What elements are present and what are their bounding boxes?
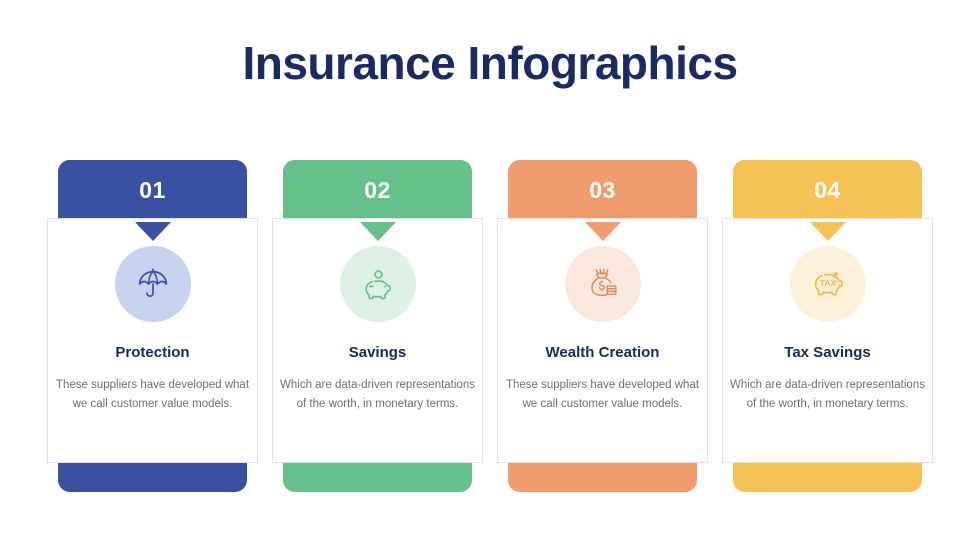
slide-canvas: Insurance Infographics 01 Protection: [0, 0, 980, 551]
card-description: Which are data-driven representations of…: [728, 376, 928, 413]
card-number: 03: [589, 179, 616, 204]
card-title: Tax Savings: [784, 344, 870, 362]
cards-row: 01 Protection These suppliers have devel…: [47, 160, 933, 492]
card-description: Which are data-driven representations of…: [278, 376, 478, 413]
card-body: Savings Which are data-driven representa…: [272, 218, 483, 463]
card-number: 04: [814, 179, 841, 204]
card-notch-triangle: [135, 222, 171, 241]
icon-circle: [340, 246, 416, 322]
umbrella-icon: [134, 265, 172, 303]
page-title: Insurance Infographics: [0, 38, 980, 89]
card-description: These suppliers have developed what we c…: [53, 376, 253, 413]
card-header: 03: [508, 160, 697, 222]
icon-circle: [565, 246, 641, 322]
card-body: Wealth Creation These suppliers have dev…: [497, 218, 708, 463]
svg-text:TAX: TAX: [819, 278, 836, 288]
card-body: TAX Tax Savings Which are data-driven re…: [722, 218, 933, 463]
card-header: 01: [58, 160, 247, 222]
card-number: 01: [139, 179, 166, 204]
card-title: Savings: [349, 344, 407, 362]
card-title: Protection: [115, 344, 189, 362]
card-notch-triangle: [810, 222, 846, 241]
tax-piggy-bank-icon: TAX: [808, 264, 848, 304]
info-card-3[interactable]: 03 Wealth Creation: [497, 160, 708, 492]
card-body: Protection These suppliers have develope…: [47, 218, 258, 463]
card-notch-triangle: [585, 222, 621, 241]
info-card-1[interactable]: 01 Protection These suppliers have devel…: [47, 160, 258, 492]
card-header: 02: [283, 160, 472, 222]
card-number: 02: [364, 179, 391, 204]
piggy-bank-icon: [359, 265, 397, 303]
money-bag-icon: [584, 265, 622, 303]
card-header: 04: [733, 160, 922, 222]
icon-circle: [115, 246, 191, 322]
card-title: Wealth Creation: [546, 344, 660, 362]
card-notch-triangle: [360, 222, 396, 241]
icon-circle: TAX: [790, 246, 866, 322]
info-card-4[interactable]: 04 TAX Tax Savings Which are data-driven…: [722, 160, 933, 492]
info-card-2[interactable]: 02 Savings Which are data-driven represe…: [272, 160, 483, 492]
card-description: These suppliers have developed what we c…: [503, 376, 703, 413]
